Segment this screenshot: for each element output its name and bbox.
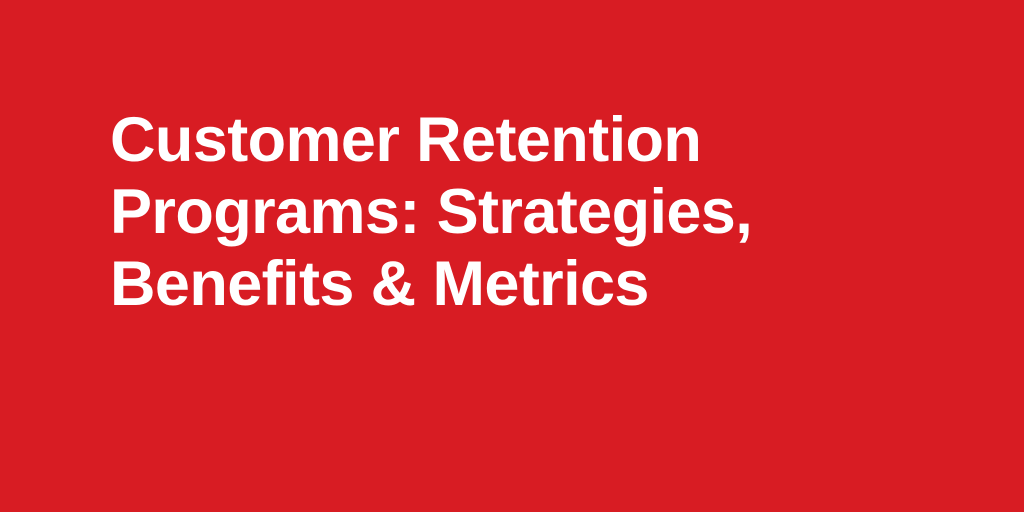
title-banner: Customer Retention Programs: Strategies,… xyxy=(0,0,1024,512)
page-title: Customer Retention Programs: Strategies,… xyxy=(110,104,810,320)
page-title-line-3: Benefits & Metrics xyxy=(110,248,810,320)
page-title-line-1: Customer Retention xyxy=(110,104,810,176)
page-title-line-2: Programs: Strategies, xyxy=(110,176,810,248)
